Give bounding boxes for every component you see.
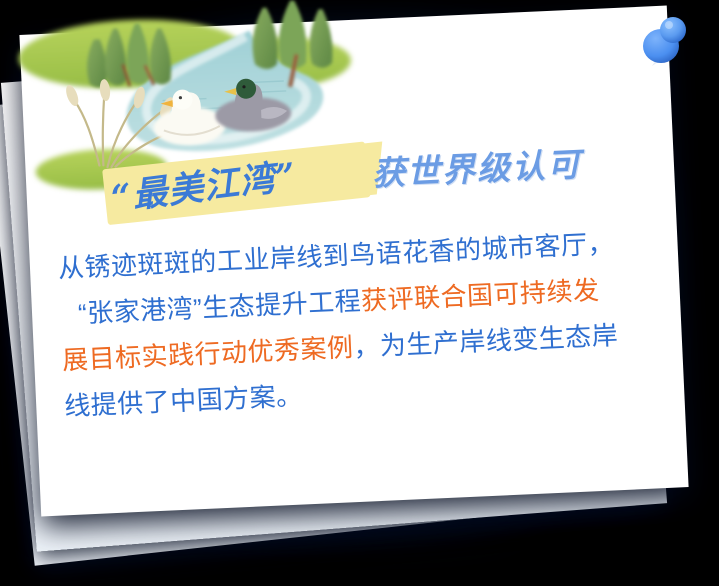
body-segment: “张家港湾”生态提升工程 bbox=[77, 286, 361, 329]
poster-canvas: “最美江湾” 获世界级认可 从锈迹斑斑的工业岸线到鸟语花香的城市客厅， “张家港… bbox=[0, 0, 719, 586]
pushpin-icon[interactable] bbox=[638, 10, 702, 74]
body-paragraph: 从锈迹斑斑的工业岸线到鸟语花香的城市客厅， “张家港湾”生态提升工程获评联合国可… bbox=[57, 218, 665, 429]
body-segment: 线提供了中国方案。 bbox=[64, 380, 304, 421]
pin-head bbox=[660, 17, 686, 43]
card-content: “最美江湾” 获世界级认可 从锈迹斑斑的工业岸线到鸟语花香的城市客厅， “张家港… bbox=[19, 6, 688, 517]
body-segment-highlight: 获评联合国可持续发 bbox=[360, 275, 600, 316]
body-segment-highlight: 展目标实践行动优秀案例 bbox=[62, 332, 355, 375]
body-segment: ，为生产岸线变生态岸 bbox=[353, 320, 619, 362]
headline-main-text: 获世界级认可 bbox=[371, 138, 583, 195]
pin-highlight bbox=[665, 21, 673, 29]
riverside-duck-scene-illustration bbox=[8, 0, 420, 267]
